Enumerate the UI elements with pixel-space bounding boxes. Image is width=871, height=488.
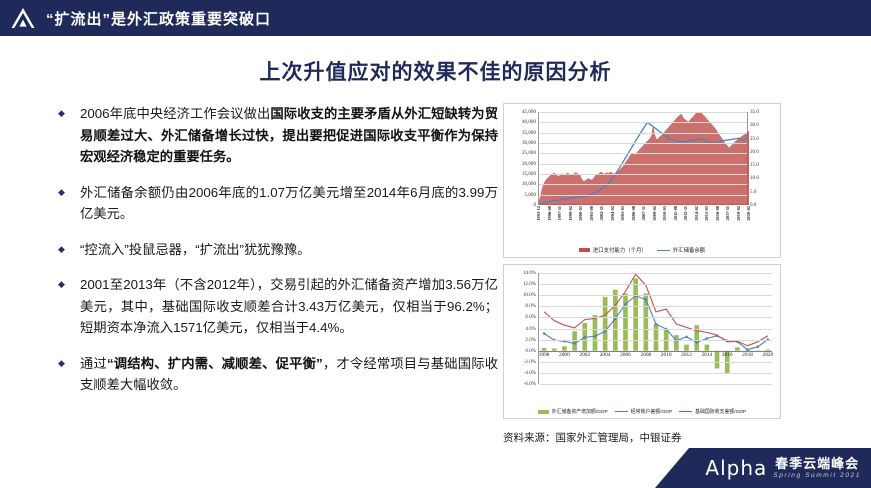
gridline <box>539 164 747 165</box>
legend-item: 经常账户差额/GDP <box>615 408 672 415</box>
gridline <box>539 329 772 330</box>
bullet-run: 2006年底中央经济工作会议做出 <box>80 106 270 121</box>
y-axis-tick-label: -4.0% <box>524 370 536 376</box>
footer-en-title: Spring Summit 2021 <box>773 473 861 480</box>
y-axis-tick-label: 30,000 <box>522 140 536 146</box>
legend-swatch-icon <box>657 250 670 251</box>
x-axis-tick-label: 1993-12 <box>536 206 541 221</box>
page-title: 上次升值应对的效果不佳的原因分析 <box>0 56 871 86</box>
x-axis-tick-label: 2008 <box>640 352 651 358</box>
gridline <box>539 351 772 352</box>
list-item: ◆外汇储备余额仍由2006年底的1.07万亿美元增至2014年6月底的3.99万… <box>58 182 498 225</box>
gridline <box>539 317 772 318</box>
gridline <box>539 295 772 296</box>
y-axis-tick-label: 35,000 <box>522 130 536 136</box>
x-axis-tick-label: 2011-08 <box>673 206 678 220</box>
x-axis-tick-label: 2017-11 <box>725 206 730 220</box>
bullet-diamond-icon: ◆ <box>58 103 80 118</box>
plot-area: 05,00010,00015,00020,00025,00030,00035,0… <box>538 112 748 205</box>
list-item: ◆2001至2013年（不含2012年），交易引起的外汇储备资产增加3.56万亿… <box>58 274 498 339</box>
x-axis-tick-label: 2015-05 <box>704 206 709 221</box>
chart-series-svg <box>539 112 749 205</box>
legend-label: 外汇储备余额 <box>673 246 705 254</box>
bullet-diamond-icon: ◆ <box>58 182 80 197</box>
gridline <box>539 373 772 374</box>
chart-legend: 进口支付能力（个月）外汇储备余额 <box>504 246 780 254</box>
x-axis-tick-label: 2012 <box>681 352 692 358</box>
bullet-run: 外汇储备余额仍由2006年底的1.07万亿美元增至2014年6月底的3.99万亿… <box>80 185 498 222</box>
gridline <box>539 340 772 341</box>
list-item: ◆“控流入”投鼠忌器，“扩流出”犹犹豫豫。 <box>58 239 498 261</box>
y-axis-tick-label: 5,000 <box>525 192 536 198</box>
legend-item: 外汇储备余额 <box>657 246 705 254</box>
x-axis-tick-label: 2006 <box>620 352 631 358</box>
y-axis-tick-label: 20,000 <box>522 161 536 167</box>
x-axis-tick-label: 2018 <box>742 352 753 358</box>
legend-swatch-icon <box>579 248 590 252</box>
header-title: “扩流出”是外汇政策重要突破口 <box>46 8 271 29</box>
footer-logo: Alpha 春季云端峰会 Spring Summit 2021 <box>655 448 871 488</box>
bullet-emphasis: “调结构、扩内需、减顺差、促平衡” <box>107 356 323 371</box>
bullet-list: ◆2006年底中央经济工作会议做出国际收支的主要矛盾从外汇短缺转为贸易顺差过大、… <box>58 103 498 410</box>
gridline <box>539 133 747 134</box>
y-axis-tick-label: 14.0% <box>523 270 536 276</box>
legend-item: 基础国际收支差额/GDP <box>679 408 746 415</box>
legend-item: 进口支付能力（个月） <box>579 246 647 254</box>
x-axis-tick-label: 2010-05 <box>662 206 667 221</box>
y2-axis-tick-label: 35.0 <box>750 109 759 115</box>
legend-item: 外汇储备资产增加额/GDP <box>538 408 608 415</box>
x-axis-tick-label: 2014-02 <box>694 206 699 221</box>
x-axis-tick-label: 2002-11 <box>599 206 604 220</box>
y-axis-tick-label: 10,000 <box>522 181 536 187</box>
legend-swatch-icon <box>615 411 628 412</box>
header-bar: “扩流出”是外汇政策重要突破口 <box>0 0 871 36</box>
legend-swatch-icon <box>538 410 549 414</box>
y2-axis-tick-label: 30.0 <box>750 122 759 128</box>
gridline <box>539 184 747 185</box>
y-axis-tick-label: 2.0% <box>525 337 536 343</box>
x-axis-tick-label: 2004-02 <box>610 206 615 221</box>
chart-forex-reserves: 05,00010,00015,00020,00025,00030,00035,0… <box>503 103 781 258</box>
charts-panel: 05,00010,00015,00020,00025,00030,00035,0… <box>503 103 781 419</box>
legend-label: 进口支付能力（个月） <box>593 246 647 254</box>
bullet-text: 通过“调结构、扩内需、减顺差、促平衡”，才令经常项目与基础国际收支顺差大幅收敛。 <box>80 353 498 396</box>
legend-label: 经常账户差额/GDP <box>631 408 672 415</box>
footer-cn-title: 春季云端峰会 <box>775 457 859 470</box>
x-axis-tick-label: 2016-08 <box>715 206 720 221</box>
bullet-text: 外汇储备余额仍由2006年底的1.07万亿美元增至2014年6月底的3.99万亿… <box>80 182 498 225</box>
gridline <box>539 195 747 196</box>
x-axis-tick-label: 2006-08 <box>631 206 636 221</box>
bullet-run: “控流入”投鼠忌器，“扩流出”犹犹豫豫。 <box>80 242 310 257</box>
y-axis-tick-label: -6.0% <box>524 381 536 387</box>
bullet-diamond-icon: ◆ <box>58 274 80 289</box>
chart-bop-gdp: -6.0%-4.0%-2.0%0.0%2.0%4.0%6.0%8.0%10.0%… <box>503 264 781 419</box>
y2-axis-tick-label: 15.0 <box>750 162 759 168</box>
y-axis-tick-label: 8.0% <box>525 303 536 309</box>
list-item: ◆2006年底中央经济工作会议做出国际收支的主要矛盾从外汇短缺转为贸易顺差过大、… <box>58 103 498 168</box>
y-axis-tick-label: 25,000 <box>522 150 536 156</box>
gridline <box>539 384 772 385</box>
source-note: 资料来源：国家外汇管理局，中银证券 <box>503 430 793 445</box>
y-axis-tick-label: 45,000 <box>522 109 536 115</box>
bullet-text: 2006年底中央经济工作会议做出国际收支的主要矛盾从外汇短缺转为贸易顺差过大、外… <box>80 103 498 168</box>
x-axis-tick-label: 2020 <box>763 352 774 358</box>
x-axis-tick-label: 1996-08 <box>547 206 552 221</box>
y-axis-tick-label: 4.0% <box>525 326 536 332</box>
x-axis-tick-label: 2010 <box>661 352 672 358</box>
x-axis-tick-label: 2014 <box>701 352 712 358</box>
x-axis-tick-label: 1997-11 <box>557 206 562 220</box>
x-axis-tick-label: 2005-05 <box>620 206 625 221</box>
gridline <box>539 153 747 154</box>
gridline <box>539 143 747 144</box>
x-axis-tick-label: 1998 <box>539 352 550 358</box>
plot-area: -6.0%-4.0%-2.0%0.0%2.0%4.0%6.0%8.0%10.0%… <box>538 273 772 384</box>
x-axis-tick-label: 1999-02 <box>568 206 573 221</box>
y-axis-tick-label: 15,000 <box>522 171 536 177</box>
bullet-run: 2001至2013年（不含2012年），交易引起的外汇储备资产增加3.56万亿美… <box>80 277 498 335</box>
x-axis-tick-label: 2020-05 <box>746 206 751 221</box>
alpha-triangle-icon <box>0 0 46 36</box>
legend-label: 基础国际收支差额/GDP <box>695 408 746 415</box>
x-axis-tick-label: 2016 <box>722 352 733 358</box>
y2-axis-tick-label: 10.0 <box>750 175 759 181</box>
x-axis-tick-label: 2007-11 <box>641 206 646 220</box>
y-axis-tick-label: 0.0% <box>525 348 536 354</box>
y2-axis-tick-label: 25.0 <box>750 136 759 142</box>
gridline <box>539 362 772 363</box>
x-axis-tick-label: 2001-08 <box>589 206 594 221</box>
gridline <box>539 174 747 175</box>
legend-label: 外汇储备资产增加额/GDP <box>552 408 608 415</box>
gridline <box>539 273 772 274</box>
x-axis-tick-label: 2004 <box>600 352 611 358</box>
y-axis-tick-label: 6.0% <box>525 314 536 320</box>
x-axis-tick-label: 2002 <box>579 352 590 358</box>
y2-axis-tick-label: 5.0 <box>750 189 756 195</box>
bullet-diamond-icon: ◆ <box>58 239 80 254</box>
x-axis-tick-label: 2012-11 <box>683 206 688 220</box>
footer-brand: Alpha <box>705 456 767 480</box>
chart-legend: 外汇储备资产增加额/GDP经常账户差额/GDP基础国际收支差额/GDP <box>504 408 780 415</box>
y-axis-tick-label: 10.0% <box>523 292 536 298</box>
y2-axis-tick-label: 20.0 <box>750 149 759 155</box>
bullet-text: 2001至2013年（不含2012年），交易引起的外汇储备资产增加3.56万亿美… <box>80 274 498 339</box>
y-axis-tick-label: 40,000 <box>522 119 536 125</box>
legend-swatch-icon <box>679 411 692 412</box>
x-axis-tick-label: 2000 <box>559 352 570 358</box>
y-axis-tick-label: -2.0% <box>524 359 536 365</box>
x-axis-tick-label: 2000-05 <box>578 206 583 221</box>
gridline <box>539 306 772 307</box>
list-item: ◆通过“调结构、扩内需、减顺差、促平衡”，才令经常项目与基础国际收支顺差大幅收敛… <box>58 353 498 396</box>
bullet-text: “控流入”投鼠忌器，“扩流出”犹犹豫豫。 <box>80 239 498 261</box>
bullet-run: 通过 <box>80 356 107 371</box>
gridline <box>539 122 747 123</box>
bullet-diamond-icon: ◆ <box>58 353 80 368</box>
y-axis-tick-label: 12.0% <box>523 281 536 287</box>
x-axis-tick-label: 2009-02 <box>652 206 657 221</box>
x-axis-tick-label: 2019-02 <box>736 206 741 221</box>
gridline <box>539 112 747 113</box>
gridline <box>539 284 772 285</box>
